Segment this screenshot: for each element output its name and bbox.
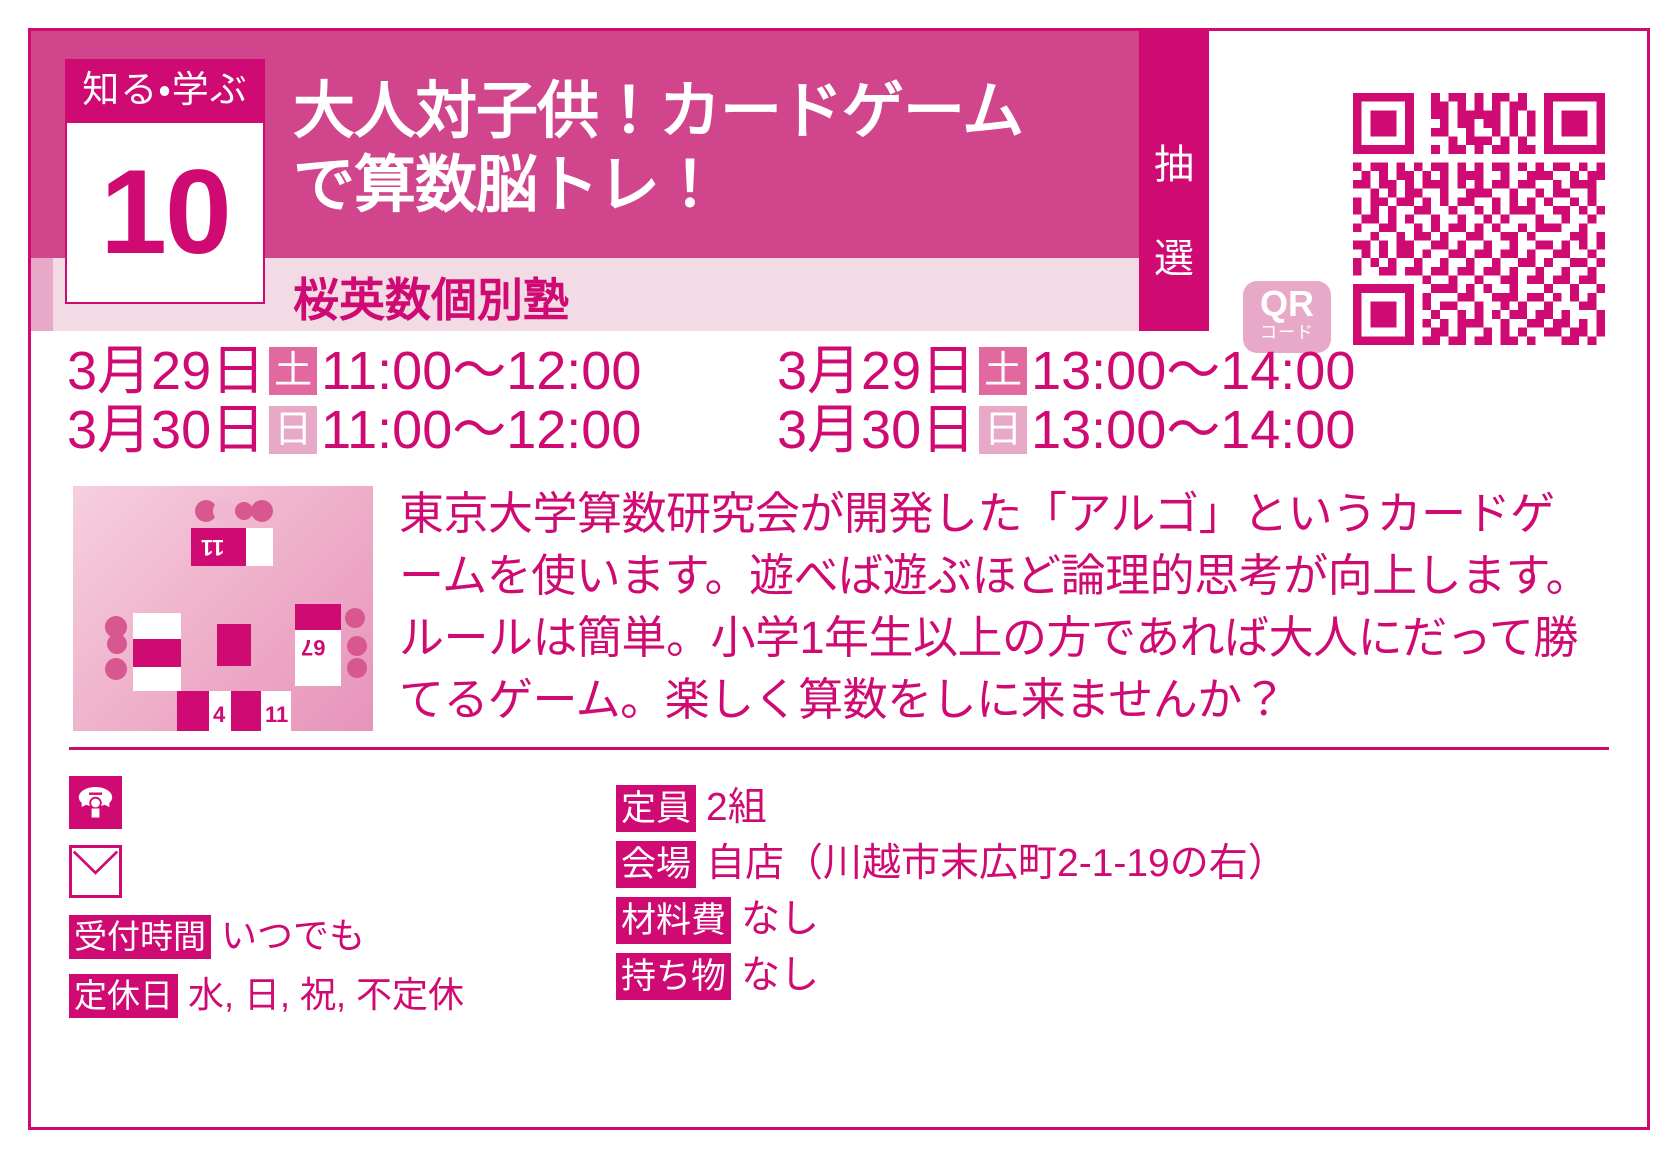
section-divider bbox=[69, 747, 1609, 750]
telephone-icon[interactable] bbox=[69, 776, 122, 829]
title-line-1: 大人対子供！カードゲーム bbox=[293, 75, 1113, 149]
photo-chip bbox=[251, 500, 273, 522]
session-3: 3月30日 日 11:00〜12:00 bbox=[67, 402, 777, 458]
qr-label-main: QR bbox=[1243, 285, 1331, 323]
info-row-venue: 会場 自店（川越市末広町2-1-19の右） bbox=[616, 840, 1596, 888]
session-date: 3月30日 bbox=[67, 402, 265, 458]
lottery-char-1: 抽 bbox=[1154, 132, 1194, 190]
photo-chip bbox=[213, 500, 235, 522]
session-1: 3月29日 土 11:00〜12:00 bbox=[67, 343, 777, 399]
details-block: 定員 2組 会場 自店（川越市末広町2-1-19の右） 材料費 なし 持ち物 な… bbox=[616, 776, 1596, 1000]
session-date: 3月30日 bbox=[777, 402, 975, 458]
session-date: 3月29日 bbox=[777, 343, 975, 399]
envelope-icon[interactable] bbox=[69, 845, 122, 898]
page-title: 大人対子供！カードゲーム で算数脳トレ！ bbox=[293, 75, 1113, 223]
photo-chip bbox=[347, 636, 367, 656]
info-value: 自店（川越市末広町2-1-19の右） bbox=[706, 840, 1287, 888]
info-value: なし bbox=[741, 896, 819, 944]
info-value: いつでも bbox=[221, 914, 365, 958]
info-row-bring: 持ち物 なし bbox=[616, 952, 1596, 1000]
lottery-badge: 抽 選 bbox=[1139, 31, 1209, 331]
photo-card bbox=[217, 624, 251, 666]
category-badge: 知る・学ぶ bbox=[65, 59, 265, 121]
info-row-material-fee: 材料費 なし bbox=[616, 896, 1596, 944]
session-weekday-badge: 日 bbox=[979, 406, 1027, 454]
schedule-row: 3月29日 土 11:00〜12:00 3月29日 土 13:00〜14:00 bbox=[67, 341, 1627, 400]
info-tag: 定休日 bbox=[69, 974, 178, 1018]
session-2: 3月29日 土 13:00〜14:00 bbox=[777, 343, 1355, 399]
info-row-closed-days: 定休日 水, 日, 祝, 不定休 bbox=[69, 973, 609, 1018]
schedule-list: 3月29日 土 11:00〜12:00 3月29日 土 13:00〜14:00 … bbox=[67, 341, 1627, 459]
session-time: 11:00〜12:00 bbox=[321, 343, 641, 399]
qr-label-sub: コード bbox=[1243, 323, 1331, 343]
info-value: 2組 bbox=[706, 784, 767, 832]
title-line-2: で算数脳トレ！ bbox=[293, 149, 1113, 223]
info-tag: 定員 bbox=[616, 785, 696, 832]
info-tag: 材料費 bbox=[616, 897, 731, 944]
info-tag: 会場 bbox=[616, 841, 696, 888]
event-card: 知る・学ぶ 10 大人対子供！カードゲーム で算数脳トレ！ 桜英数個別塾 抽 選… bbox=[28, 28, 1650, 1130]
event-description: 東京大学算数研究会が開発した「アルゴ」というカードゲームを使います。遊べば遊ぶほ… bbox=[399, 483, 1599, 731]
session-time: 13:00〜14:00 bbox=[1031, 343, 1355, 399]
photo-card-number: 11 bbox=[201, 534, 224, 560]
category-day-block: 知る・学ぶ 10 bbox=[65, 59, 265, 304]
session-4: 3月30日 日 13:00〜14:00 bbox=[777, 402, 1355, 458]
session-weekday-badge: 土 bbox=[979, 347, 1027, 395]
event-photo: 11 67 4 11 bbox=[73, 486, 373, 731]
session-time: 11:00〜12:00 bbox=[321, 402, 641, 458]
session-date: 3月29日 bbox=[67, 343, 265, 399]
photo-chip bbox=[105, 658, 127, 680]
info-value: なし bbox=[741, 952, 819, 1000]
photo-chip bbox=[347, 658, 367, 678]
photo-card bbox=[231, 691, 261, 731]
photo-card bbox=[295, 604, 341, 630]
photo-card-number: 4 bbox=[213, 702, 225, 728]
info-row-reception: 受付時間 いつでも bbox=[69, 914, 609, 959]
qr-code-icon[interactable] bbox=[1353, 93, 1605, 345]
session-weekday-badge: 土 bbox=[269, 347, 317, 395]
card-header: 知る・学ぶ 10 大人対子供！カードゲーム で算数脳トレ！ 桜英数個別塾 抽 選… bbox=[31, 31, 1647, 331]
lottery-char-2: 選 bbox=[1154, 226, 1194, 284]
photo-chip bbox=[345, 608, 365, 628]
contact-block: 受付時間 いつでも 定休日 水, 日, 祝, 不定休 bbox=[69, 776, 609, 1018]
photo-card-number: 67 bbox=[301, 634, 325, 660]
day-number: 10 bbox=[65, 121, 265, 304]
info-row-capacity: 定員 2組 bbox=[616, 784, 1596, 832]
session-time: 13:00〜14:00 bbox=[1031, 402, 1355, 458]
header-left-stripe-lower bbox=[31, 258, 53, 331]
photo-card bbox=[133, 639, 181, 667]
photo-chip bbox=[107, 634, 127, 654]
schedule-row: 3月30日 日 11:00〜12:00 3月30日 日 13:00〜14:00 bbox=[67, 400, 1627, 459]
info-tag: 受付時間 bbox=[69, 915, 211, 959]
organizer-name: 桜英数個別塾 bbox=[293, 274, 569, 326]
info-value: 水, 日, 祝, 不定休 bbox=[188, 973, 464, 1017]
info-tag: 持ち物 bbox=[616, 953, 731, 1000]
photo-card bbox=[177, 691, 209, 731]
session-weekday-badge: 日 bbox=[269, 406, 317, 454]
photo-card-number: 11 bbox=[265, 702, 288, 728]
